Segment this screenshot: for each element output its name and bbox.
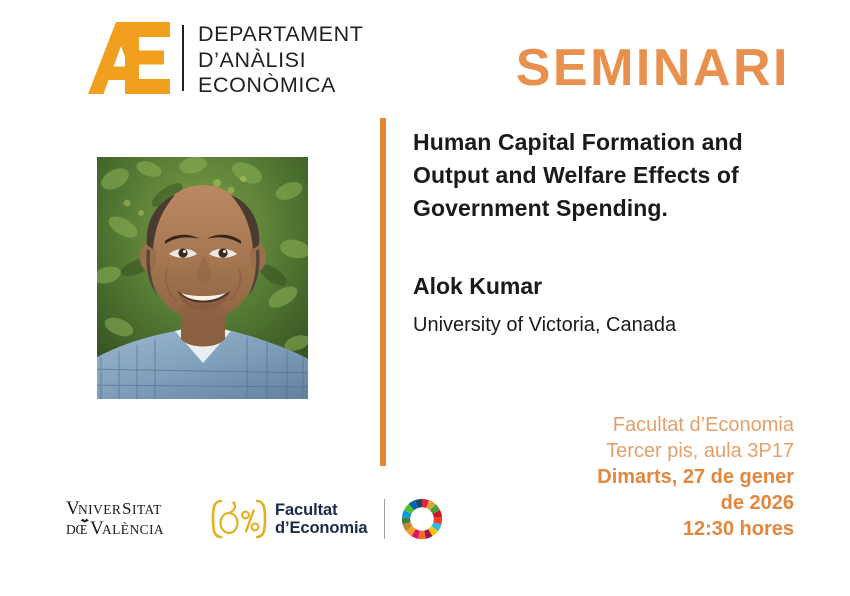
seminar-label: SEMINARI bbox=[516, 42, 790, 94]
department-line-2: D’ANÀLISI bbox=[198, 48, 363, 74]
venue-line-faculty: Facultat d’Economia bbox=[464, 412, 794, 438]
facultat-line-1: Facultat bbox=[275, 501, 368, 520]
svg-text:D: D bbox=[66, 522, 76, 537]
footer-logo-row: V NIVER S ITAT D Œ V ALÈNCIA bbox=[66, 496, 443, 542]
venue-line-date: Dimarts, 27 de gener bbox=[464, 464, 794, 490]
svg-text:NIVER: NIVER bbox=[78, 502, 121, 517]
accent-vertical-rule bbox=[380, 118, 386, 466]
ae-monogram-icon bbox=[88, 22, 170, 94]
facultat-economia-text: Facultat d’Economia bbox=[275, 501, 368, 538]
speaker-portrait-image bbox=[97, 157, 308, 399]
venue-line-year: de 2026 bbox=[464, 490, 794, 516]
venue-line-time: 12:30 hores bbox=[464, 516, 794, 542]
svg-text:S: S bbox=[122, 499, 132, 518]
speaker-photo bbox=[97, 157, 308, 399]
department-name: DEPARTAMENT D’ANÀLISI ECONÒMICA bbox=[198, 22, 363, 99]
facultat-line-2: d’Economia bbox=[275, 519, 368, 538]
logo-divider bbox=[182, 25, 184, 91]
sdg-color-wheel-icon bbox=[401, 498, 443, 540]
talk-title-line-1: Human Capital Formation and bbox=[413, 126, 803, 159]
svg-text:ITAT: ITAT bbox=[132, 502, 162, 517]
talk-title: Human Capital Formation and Output and W… bbox=[413, 126, 803, 225]
footer-divider bbox=[384, 499, 385, 539]
speaker-name: Alok Kumar bbox=[413, 272, 542, 300]
universitat-de-valencia-logo: V NIVER S ITAT D Œ V ALÈNCIA bbox=[66, 496, 194, 542]
department-logo-lockup: DEPARTAMENT D’ANÀLISI ECONÒMICA bbox=[88, 22, 363, 99]
venue-details: Facultat d’Economia Tercer pis, aula 3P1… bbox=[464, 412, 794, 542]
facultat-economia-logo: Facultat d’Economia bbox=[210, 498, 368, 540]
department-line-1: DEPARTAMENT bbox=[198, 22, 363, 48]
svg-text:ALÈNCIA: ALÈNCIA bbox=[102, 522, 164, 537]
speaker-affiliation: University of Victoria, Canada bbox=[413, 312, 676, 338]
venue-line-room: Tercer pis, aula 3P17 bbox=[464, 438, 794, 464]
talk-title-line-3: Government Spending. bbox=[413, 192, 803, 225]
svg-text:Œ: Œ bbox=[76, 522, 88, 537]
talk-title-line-2: Output and Welfare Effects of bbox=[413, 159, 803, 192]
facultat-bracket-icon bbox=[210, 498, 268, 540]
seminar-poster: DEPARTAMENT D’ANÀLISI ECONÒMICA SEMINARI bbox=[0, 0, 850, 596]
department-line-3: ECONÒMICA bbox=[198, 73, 363, 99]
